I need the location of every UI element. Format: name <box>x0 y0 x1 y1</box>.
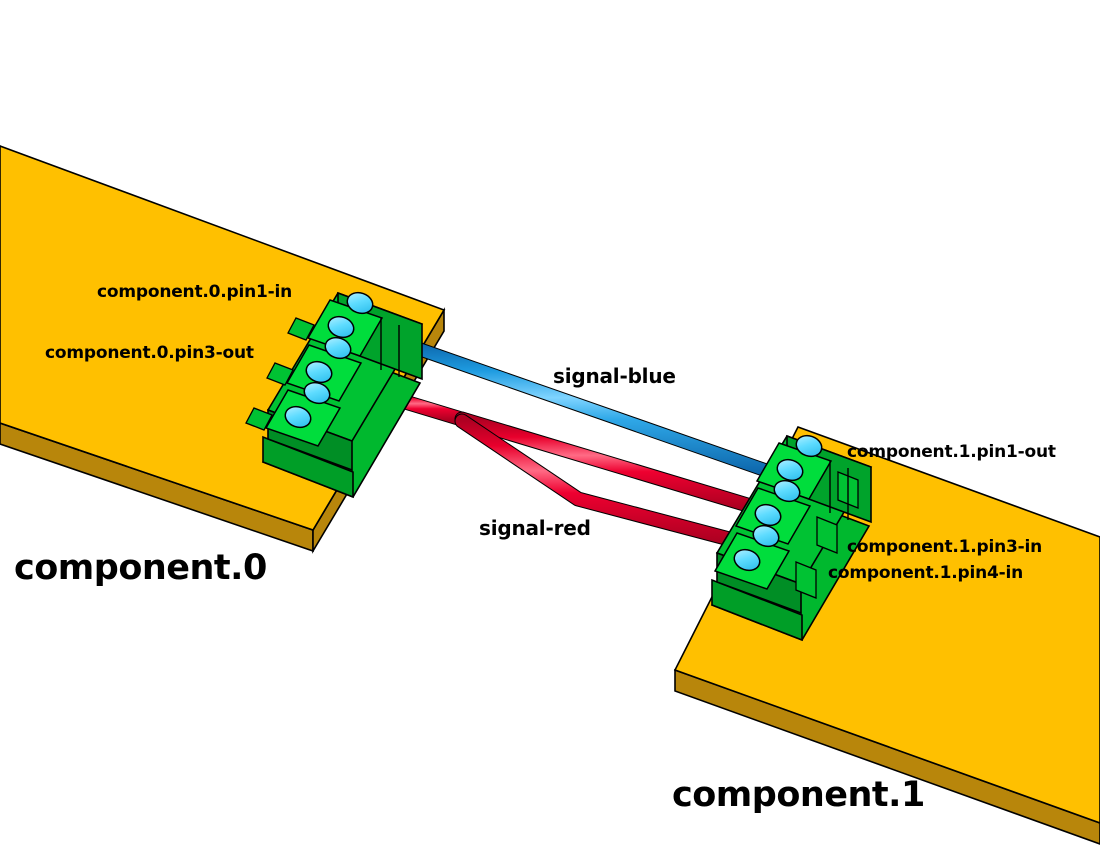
signal-label-red: signal-red <box>479 518 591 538</box>
scene-svg <box>0 0 1100 850</box>
diagram-canvas: component.0.pin1-in component.0.pin3-out… <box>0 0 1100 850</box>
signal-label-blue: signal-blue <box>553 366 676 386</box>
pin-label-component-1-pin3-in: component.1.pin3-in <box>847 539 1042 556</box>
pin-label-component-1-pin1-out: component.1.pin1-out <box>847 444 1056 461</box>
pin-label-component-1-pin4-in: component.1.pin4-in <box>828 565 1023 582</box>
pin-label-component-0-pin1-in: component.0.pin1-in <box>97 284 292 301</box>
component-title-1: component.1 <box>672 778 925 813</box>
component-title-0: component.0 <box>14 551 267 586</box>
pin-label-component-0-pin3-out: component.0.pin3-out <box>45 345 254 362</box>
